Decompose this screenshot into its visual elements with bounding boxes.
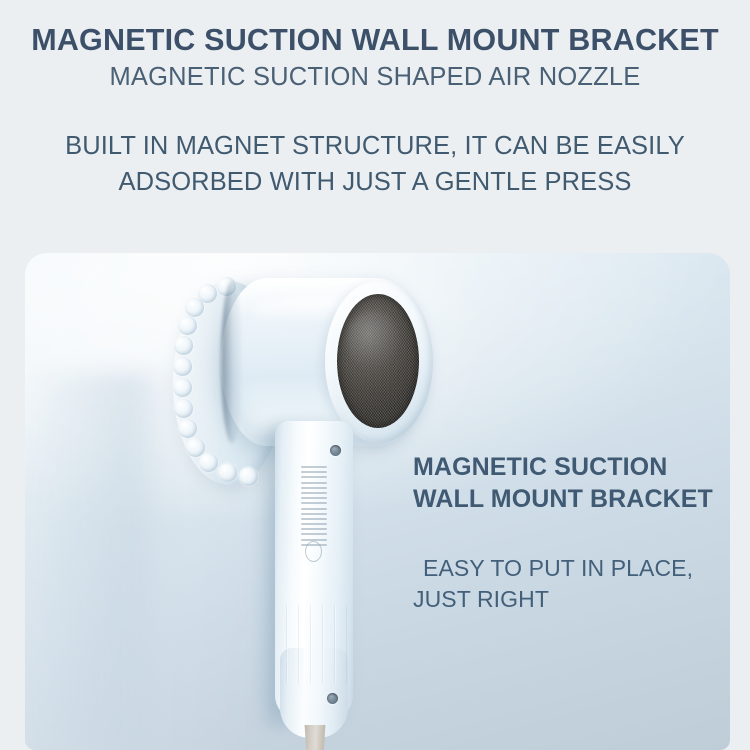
handle-screw-upper <box>330 445 341 456</box>
bracket-scallop <box>178 419 197 438</box>
tagline-line-1: BUILT IN MAGNET STRUCTURE, IT CAN BE EAS… <box>0 129 750 164</box>
bracket-scallop <box>218 463 237 482</box>
bracket-scallop <box>239 467 258 486</box>
bracket-scallop <box>199 453 218 472</box>
power-cord <box>302 725 328 750</box>
barrel-seam-shadow <box>221 281 243 443</box>
tagline-line-2: ADSORBED WITH JUST A GENTLE PRESS <box>0 165 750 200</box>
overlay-heading-line-2: WALL MOUNT BRACKET <box>413 483 723 515</box>
overlay-body: EASY TO PUT IN PLACE, JUST RIGHT <box>413 553 723 615</box>
product-marketing-image: MAGNETIC SUCTION WALL MOUNT BRACKET MAGN… <box>0 0 750 750</box>
page-subtitle: MAGNETIC SUCTION SHAPED AIR NOZZLE <box>0 63 750 91</box>
product-photo-panel: MAGNETIC SUCTION WALL MOUNT BRACKET EASY… <box>25 253 730 750</box>
bracket-scallop <box>174 399 193 418</box>
page-title: MAGNETIC SUCTION WALL MOUNT BRACKET <box>0 24 750 56</box>
header-text-block: MAGNETIC SUCTION WALL MOUNT BRACKET MAGN… <box>0 0 750 200</box>
overlay-heading-line-1: MAGNETIC SUCTION <box>413 451 723 483</box>
overlay-body-line-1: EASY TO PUT IN PLACE, <box>413 553 723 584</box>
wall-edge-gradient <box>25 373 173 750</box>
tagline-block: BUILT IN MAGNET STRUCTURE, IT CAN BE EAS… <box>0 129 750 199</box>
nozzle-glare <box>347 311 399 371</box>
handle-grip-ribs <box>281 605 347 683</box>
photo-overlay-text: MAGNETIC SUCTION WALL MOUNT BRACKET EASY… <box>413 451 723 615</box>
bracket-scallop <box>178 316 197 335</box>
bracket-scallop <box>173 357 192 376</box>
overlay-body-line-2: JUST RIGHT <box>413 584 723 615</box>
bracket-scallop <box>173 378 192 397</box>
certification-mark-icon <box>305 541 322 562</box>
bracket-scallop <box>185 298 204 317</box>
handle-screw-lower <box>327 693 338 704</box>
overlay-heading: MAGNETIC SUCTION WALL MOUNT BRACKET <box>413 451 723 515</box>
bracket-scallop <box>174 336 193 355</box>
